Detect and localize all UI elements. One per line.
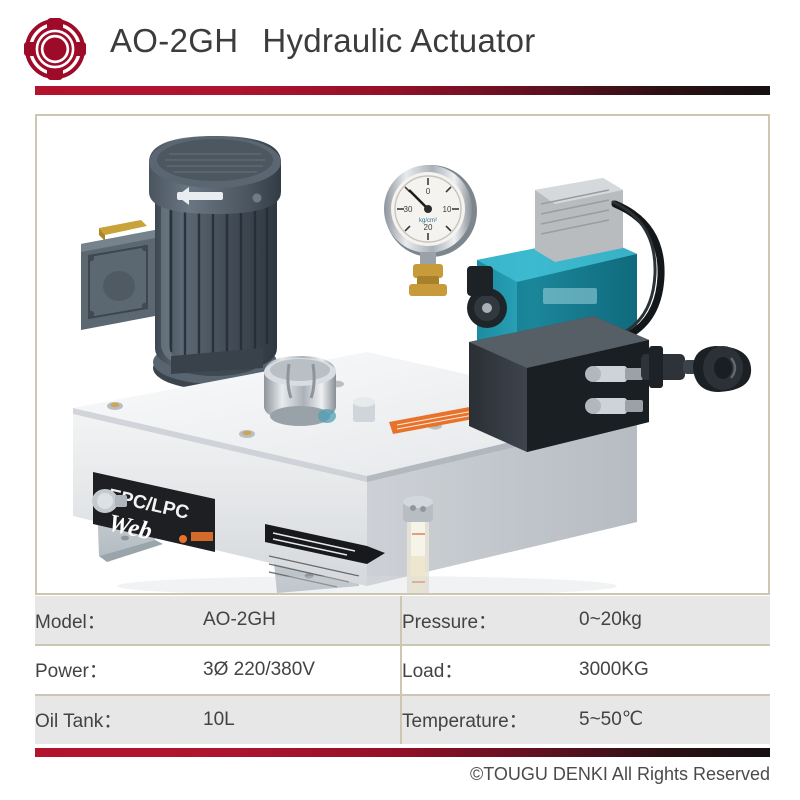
svg-text:10: 10: [443, 205, 452, 214]
product-image-panel: EPC/LPC Web: [35, 114, 770, 595]
title-model-code: AO-2GH: [110, 22, 238, 59]
spec-value-power: 3Ø 220/380V: [203, 645, 401, 694]
table-row: Model： AO-2GH Pressure： 0~20kg: [35, 596, 770, 645]
spec-value-temperature: 5~50℃: [579, 695, 770, 744]
table-row: Power： 3Ø 220/380V Load： 3000KG: [35, 645, 770, 694]
svg-text:20: 20: [424, 223, 433, 232]
tank-fitting-icon: [353, 397, 375, 422]
footer-divider-bar: [35, 748, 770, 757]
specifications-body: Model： AO-2GH Pressure： 0~20kg Power： 3Ø…: [35, 596, 770, 744]
page-title: AO-2GHHydraulic Actuator: [110, 22, 536, 60]
svg-text:30: 30: [404, 205, 413, 214]
svg-text:kg/cm²: kg/cm²: [419, 218, 437, 224]
spec-value-model: AO-2GH: [203, 596, 401, 645]
spec-label-oil-tank: Oil Tank：: [35, 695, 203, 744]
hydraulic-power-unit-illustration: EPC/LPC Web: [37, 116, 768, 593]
spec-value-load: 3000KG: [579, 645, 770, 694]
page-header: AO-2GHHydraulic Actuator: [0, 0, 800, 100]
spec-value-pressure: 0~20kg: [579, 596, 770, 645]
spec-value-oil-tank: 10L: [203, 695, 401, 744]
spec-label-model: Model：: [35, 596, 203, 645]
specifications-table: Model： AO-2GH Pressure： 0~20kg Power： 3Ø…: [35, 596, 770, 744]
product-spec-sheet: AO-2GHHydraulic Actuator: [0, 0, 800, 800]
title-product-name: Hydraulic Actuator: [262, 22, 535, 59]
concentric-ring-logo-icon: [22, 16, 88, 82]
spec-label-temperature: Temperature：: [401, 695, 579, 744]
copyright-text: ©TOUGU DENKI All Rights Reserved: [470, 764, 770, 785]
product-photo: EPC/LPC Web: [37, 116, 768, 593]
filler-breather-cap-icon: [264, 356, 336, 426]
brand-logo: [22, 16, 88, 82]
header-divider-bar: [35, 86, 770, 95]
svg-text:0: 0: [426, 187, 431, 196]
table-row: Oil Tank： 10L Temperature： 5~50℃: [35, 695, 770, 744]
spec-label-pressure: Pressure：: [401, 596, 579, 645]
spec-label-power: Power：: [35, 645, 203, 694]
spec-label-load: Load：: [401, 645, 579, 694]
